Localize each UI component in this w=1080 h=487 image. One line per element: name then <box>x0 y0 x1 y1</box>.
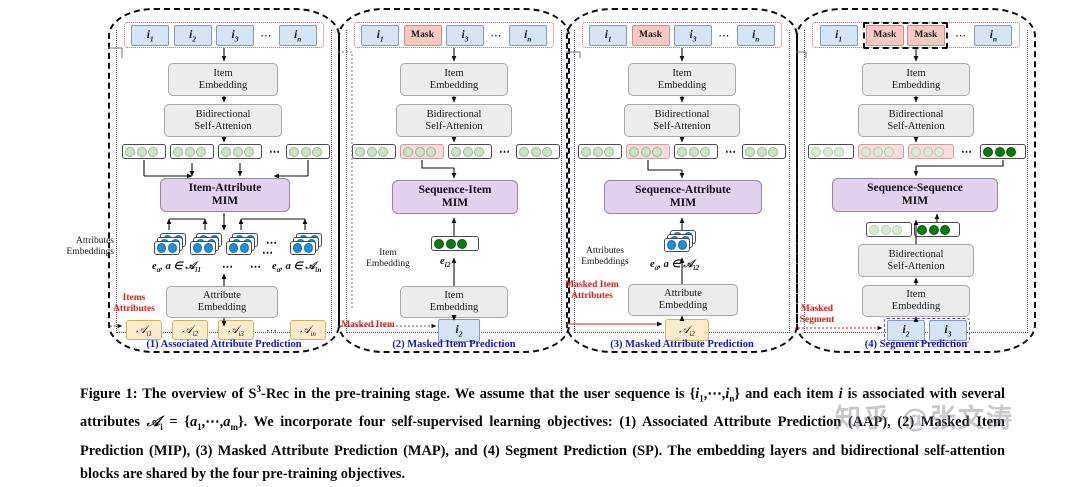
sequence-sequence-mim-block: Sequence-Sequence MIM <box>832 178 998 212</box>
token-ellipsis: ⋯ <box>488 29 504 42</box>
hidden-vector-chip-dark <box>980 144 1026 159</box>
item-embedding-block: Item Embedding <box>168 63 278 96</box>
attribute-embedding-block: Attribute Embedding <box>166 286 278 318</box>
attribute-embedding-stack <box>190 233 220 257</box>
mask-token[interactable]: Mask <box>907 25 945 46</box>
sequence-attribute-mim-block: Sequence-Attribute MIM <box>604 180 762 214</box>
block-line: Embedding <box>892 301 940 313</box>
panel-title: (2) Masked Item Prediction <box>338 339 570 350</box>
vector-dot <box>173 147 183 157</box>
hidden-vector-chip <box>808 144 854 159</box>
vector-dot <box>917 225 927 235</box>
vector-dot <box>289 147 299 157</box>
panel-title: (4) Segment Prediction <box>796 339 1036 350</box>
attribute-embedding-notation: ea, a ∈ 𝒜in <box>272 260 322 274</box>
bottom-item-embedding-block: Item Embedding <box>862 285 970 317</box>
masked-hidden-vector-chip <box>400 144 444 159</box>
block-line: Self-Attenion <box>425 121 482 133</box>
bottom-bidirectional-self-attention-block: Bidirectional Self-Attenion <box>858 244 974 277</box>
attribute-embedding-stack <box>154 233 184 257</box>
attribute-token[interactable]: 𝒜i2 <box>172 320 208 340</box>
vector-dot <box>929 225 939 235</box>
vector-dot <box>811 147 821 157</box>
vector-dot <box>403 147 413 157</box>
item-token[interactable]: i1 <box>361 25 399 46</box>
vector-dot <box>940 225 950 235</box>
bidirectional-self-attention-block: Bidirectional Self-Attenion <box>164 104 282 137</box>
bidirectional-self-attention-block: Bidirectional Self-Attenion <box>396 104 512 137</box>
label-line: Embeddings <box>67 247 115 257</box>
vector-dot <box>1006 147 1016 157</box>
block-line: Item <box>444 290 463 302</box>
masked-segment-red-label: Masked Segment <box>782 304 852 326</box>
label-line: Attributes <box>571 291 613 301</box>
vector-dot <box>881 225 891 235</box>
vector-dot <box>923 147 933 157</box>
mim-line: MIM <box>670 197 696 210</box>
hidden-vector-chip <box>742 144 786 159</box>
mim-line: Sequence-Sequence <box>867 182 963 195</box>
attribute-embedding-notation: ea, a ∈ 𝒜i1 <box>152 260 201 274</box>
masked-item-attributes-red-label: Masked Item Attributes <box>554 280 630 302</box>
item-token[interactable]: in <box>279 25 317 46</box>
block-line: Embedding <box>430 80 478 92</box>
vector-dot <box>689 147 699 157</box>
item-token[interactable]: i3 <box>446 25 484 46</box>
item-attribute-mim-block: Item-Attribute MIM <box>160 178 290 212</box>
block-line: Item <box>906 289 925 301</box>
item-token[interactable]: i3 <box>674 25 712 46</box>
segment-vector-chip-dark <box>914 222 960 237</box>
block-line: Item <box>213 68 232 80</box>
panel-segment-prediction: i1 Mask Mask ⋯ in Item Embedding Bidirec… <box>796 8 1036 353</box>
mask-token[interactable]: Mask <box>866 25 904 46</box>
input-token-row: i1 Mask i3 ⋯ in <box>582 22 782 48</box>
vector-dot <box>312 147 322 157</box>
segment-vector-chip-pale <box>866 222 912 237</box>
label-line: Attributes <box>76 236 114 246</box>
attribute-embedding-notation: ea, a ∈ 𝒜i2 <box>650 258 699 272</box>
token-ellipsis: ⋯ <box>258 29 274 42</box>
block-line: Item <box>672 68 691 80</box>
vector-dot <box>934 147 944 157</box>
attribute-token[interactable]: 𝒜in <box>290 320 326 340</box>
mask-token[interactable]: Mask <box>404 25 442 46</box>
item-embedding-vector-chip <box>431 236 479 251</box>
vector-dot <box>892 225 902 235</box>
hidden-vector-chip <box>516 144 560 159</box>
masked-hidden-vector-chip <box>858 144 904 159</box>
stack-ellipsis: ⋯ <box>260 246 276 259</box>
vector-dot <box>652 147 662 157</box>
hidden-vector-chip <box>218 144 262 159</box>
vector-dot <box>185 147 195 157</box>
vector-dot <box>244 147 254 157</box>
label-line: Items <box>123 293 146 303</box>
input-token-row: i1 Mask Mask ⋯ in <box>812 22 1020 48</box>
attribute-embedding-block: Attribute Embedding <box>628 284 738 316</box>
block-line: Bidirectional <box>889 109 944 121</box>
vector-dot <box>768 147 778 157</box>
masked-item-red-label: Masked Item <box>332 320 404 331</box>
masked-hidden-vector-chip <box>908 144 954 159</box>
panel-title: (1) Associated Attribute Prediction <box>108 339 340 350</box>
vector-dot <box>137 147 147 157</box>
block-line: Bidirectional <box>889 249 944 261</box>
block-line: Embedding <box>198 302 246 314</box>
mim-line: Sequence-Attribute <box>635 184 731 197</box>
vector-dot <box>355 147 365 157</box>
block-line: Embedding <box>430 302 478 314</box>
chip-ellipsis: ⋯ <box>267 145 283 158</box>
label-line: Masked Item <box>565 280 619 290</box>
vector-dot <box>519 147 529 157</box>
attribute-embedding-stack <box>226 233 256 257</box>
item-embedding-notation: ei2 <box>440 256 451 269</box>
item-token[interactable]: i1 <box>131 25 169 46</box>
masked-hidden-vector-chip <box>626 144 670 159</box>
vector-dot <box>604 147 614 157</box>
label-line: Segment <box>800 315 835 325</box>
vector-dot <box>426 147 436 157</box>
token-ellipsis: ⋯ <box>716 29 732 42</box>
block-line: Self-Attenion <box>887 261 944 273</box>
vector-dot <box>834 147 844 157</box>
mim-line: MIM <box>442 197 468 210</box>
notation-ellipsis: ⋯ <box>220 260 236 273</box>
hidden-vector-chip <box>352 144 396 159</box>
attribute-embedding-stack <box>290 233 320 257</box>
block-line: Embedding <box>658 80 706 92</box>
label-line: Embedding <box>366 259 410 269</box>
vector-dot <box>233 147 243 157</box>
vector-dot <box>367 147 377 157</box>
block-line: Bidirectional <box>196 109 251 121</box>
item-token[interactable]: in <box>509 25 547 46</box>
bidirectional-self-attention-block: Bidirectional Self-Attenion <box>624 104 740 137</box>
item-embedding-label: Item Embedding <box>358 248 418 270</box>
label-line: Masked <box>801 304 833 314</box>
vector-dot <box>581 147 591 157</box>
vector-dot <box>593 147 603 157</box>
vector-dot <box>148 147 158 157</box>
mim-line: MIM <box>212 195 238 208</box>
mask-token[interactable]: Mask <box>632 25 670 46</box>
hidden-vector-chip <box>674 144 718 159</box>
vector-dot <box>415 147 425 157</box>
items-attributes-red-label: Items Attributes <box>104 293 164 315</box>
sequence-item-mim-block: Sequence-Item MIM <box>392 180 518 214</box>
vector-dot <box>463 147 473 157</box>
vector-dot <box>757 147 767 157</box>
vector-dot <box>221 147 231 157</box>
notation-ellipsis: ⋯ <box>248 260 264 273</box>
hidden-vector-chip <box>286 144 330 159</box>
bidirectional-self-attention-block: Bidirectional Self-Attenion <box>858 104 974 137</box>
hidden-vector-chip <box>578 144 622 159</box>
vector-dot <box>434 239 444 249</box>
segment-item-token[interactable]: i2 <box>887 320 925 341</box>
hidden-vector-chip <box>122 144 166 159</box>
input-token-row: i1 Mask i3 ⋯ in <box>354 22 554 48</box>
panel-title: (3) Masked Attribute Prediction <box>566 339 798 350</box>
vector-dot <box>884 147 894 157</box>
item-token[interactable]: i1 <box>820 25 858 46</box>
block-line: Attribute <box>664 288 702 300</box>
block-line: Embedding <box>199 80 247 92</box>
vector-dot <box>983 147 993 157</box>
vector-dot <box>474 147 484 157</box>
segment-item-token[interactable]: i3 <box>929 320 967 341</box>
block-line: Embedding <box>892 80 940 92</box>
vector-dot <box>873 147 883 157</box>
vector-dot <box>995 147 1005 157</box>
attribute-token[interactable]: 𝒜i3 <box>218 320 254 340</box>
block-line: Attribute <box>203 290 241 302</box>
input-token-row: i1 i2 i3 ⋯ in <box>124 22 324 48</box>
vector-dot <box>677 147 687 157</box>
attribute-ellipsis: ⋯ <box>264 324 280 337</box>
mim-line: MIM <box>902 195 928 208</box>
figure-container: i1 i2 i3 ⋯ in Item Embedding Bidirection… <box>0 0 1080 474</box>
block-line: Bidirectional <box>655 109 710 121</box>
vector-dot <box>196 147 206 157</box>
attributes-embeddings-label: Attributes Embeddings <box>572 246 638 268</box>
block-line: Bidirectional <box>427 109 482 121</box>
watermark: 知乎 @张文涛 <box>835 398 1050 442</box>
attribute-token[interactable]: 𝒜i1 <box>126 320 162 340</box>
vector-dot <box>451 147 461 157</box>
panel-masked-attribute-prediction: i1 Mask i3 ⋯ in Item Embedding Bidirecti… <box>566 8 798 353</box>
block-line: Item <box>444 68 463 80</box>
caption-label: Figure 1: <box>80 386 138 402</box>
label-line: Attributes <box>113 304 155 314</box>
vector-dot <box>823 147 833 157</box>
chip-ellipsis: ⋯ <box>959 145 975 158</box>
mim-line: Sequence-Item <box>419 184 492 197</box>
token-ellipsis: ⋯ <box>953 29 969 42</box>
attributes-embeddings-label: Attributes Embeddings <box>58 236 114 258</box>
panel-masked-item-prediction: i1 Mask i3 ⋯ in Item Embedding Bidirecti… <box>338 8 570 353</box>
attribute-embedding-stack <box>664 230 694 254</box>
vector-dot <box>542 147 552 157</box>
block-line: Self-Attenion <box>887 121 944 133</box>
vector-dot <box>378 147 388 157</box>
block-line: Self-Attenion <box>653 121 710 133</box>
attribute-token-row: 𝒜i1 𝒜i2 𝒜i3 ⋯ 𝒜in <box>126 320 326 340</box>
hidden-vector-chip <box>448 144 492 159</box>
panel-associated-attribute-prediction: i1 i2 i3 ⋯ in Item Embedding Bidirection… <box>108 8 340 353</box>
item-embedding-block: Item Embedding <box>862 63 970 96</box>
vector-dot <box>457 239 467 249</box>
chip-ellipsis: ⋯ <box>497 145 513 158</box>
bottom-item-embedding-block: Item Embedding <box>400 286 508 318</box>
item-token[interactable]: in <box>737 25 775 46</box>
label-line: Item <box>379 248 396 258</box>
masked-attribute-token[interactable]: 𝒜i2 <box>665 319 709 341</box>
block-line: Self-Attenion <box>194 121 251 133</box>
label-line: Attributes <box>586 246 624 256</box>
chip-ellipsis: ⋯ <box>723 145 739 158</box>
vector-dot <box>745 147 755 157</box>
mim-line: Item-Attribute <box>189 182 262 195</box>
item-embedding-block: Item Embedding <box>400 63 508 96</box>
masked-segment-group: Mask Mask <box>863 22 948 49</box>
vector-dot <box>861 147 871 157</box>
block-line: Item <box>906 68 925 80</box>
vector-dot <box>641 147 651 157</box>
vector-dot <box>869 225 879 235</box>
item-embedding-block: Item Embedding <box>628 63 736 96</box>
item-token[interactable]: i3 <box>216 25 254 46</box>
label-line: Embeddings <box>581 257 629 267</box>
vector-dot <box>531 147 541 157</box>
vector-dot <box>629 147 639 157</box>
item-token[interactable]: in <box>974 25 1012 46</box>
item-token[interactable]: i1 <box>589 25 627 46</box>
vector-dot <box>301 147 311 157</box>
vector-dot <box>125 147 135 157</box>
block-line: Embedding <box>659 300 707 312</box>
vector-dot <box>446 239 456 249</box>
item-token[interactable]: i2 <box>174 25 212 46</box>
hidden-vector-chip <box>170 144 214 159</box>
vector-dot <box>911 147 921 157</box>
vector-dot <box>700 147 710 157</box>
